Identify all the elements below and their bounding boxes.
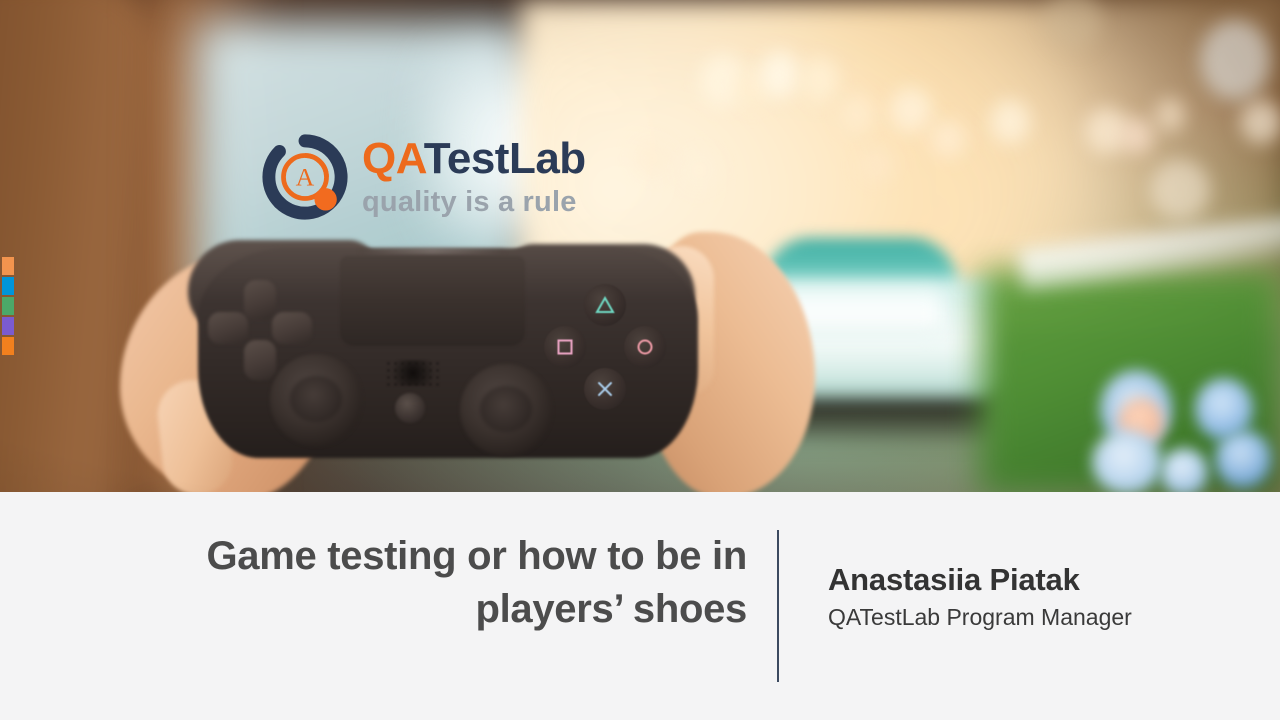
swatch-purple <box>2 317 14 335</box>
controller-speaker <box>385 360 441 386</box>
swatch-green <box>2 297 14 315</box>
swatch-orange-light <box>2 257 14 275</box>
controller-light-bar <box>360 248 505 254</box>
title-line-1: Game testing or how to be in <box>206 534 747 578</box>
qatestlab-logo: A QATestLab quality is a rule <box>262 134 586 220</box>
right-analog-stick <box>460 364 552 456</box>
triangle-button <box>584 284 626 326</box>
face-button-cluster <box>542 286 666 410</box>
dpad-right <box>272 312 312 344</box>
logo-name-testlab: TestLab <box>424 134 586 183</box>
hero-photo: A QATestLab quality is a rule <box>0 0 1280 492</box>
logo-name-qa: QA <box>362 134 424 183</box>
swatch-orange <box>2 337 14 355</box>
swatch-blue <box>2 277 14 295</box>
presenter-role: QATestLab Program Manager <box>828 604 1132 632</box>
qatestlab-at-logo-icon: A <box>262 134 348 220</box>
left-analog-stick <box>270 354 362 446</box>
controller-touchpad <box>340 256 525 346</box>
title-line-2: players’ shoes <box>475 587 747 631</box>
game-controller <box>170 238 730 492</box>
stick-dish <box>480 386 532 432</box>
logo-name: QATestLab <box>362 137 586 181</box>
dpad-down <box>244 340 276 380</box>
circle-button <box>624 326 666 368</box>
title-slide: A QATestLab quality is a rule Game testi… <box>0 0 1280 720</box>
stick-dish <box>290 376 342 422</box>
ps-home-button <box>395 393 425 423</box>
gauge-bokeh <box>1160 448 1208 492</box>
svg-text:A: A <box>296 163 315 192</box>
presenter-name: Anastasiia Piatak <box>828 562 1132 598</box>
speaker-grille <box>385 360 441 386</box>
caption-band: Game testing or how to be in players’ sh… <box>0 492 1280 720</box>
dpad-left <box>208 312 248 344</box>
dpad-up <box>244 280 276 320</box>
logo-tagline: quality is a rule <box>362 188 586 217</box>
title-presenter-divider <box>777 530 779 682</box>
square-button <box>544 326 586 368</box>
gauge-bokeh <box>1092 430 1162 492</box>
cross-button <box>584 368 626 410</box>
presenter-block: Anastasiia Piatak QATestLab Program Mana… <box>828 562 1132 631</box>
gauge-bokeh <box>1215 430 1271 488</box>
accent-swatch-strip <box>2 257 14 355</box>
page-title: Game testing or how to be in players’ sh… <box>110 530 747 636</box>
logo-wordmark: QATestLab quality is a rule <box>362 137 586 217</box>
